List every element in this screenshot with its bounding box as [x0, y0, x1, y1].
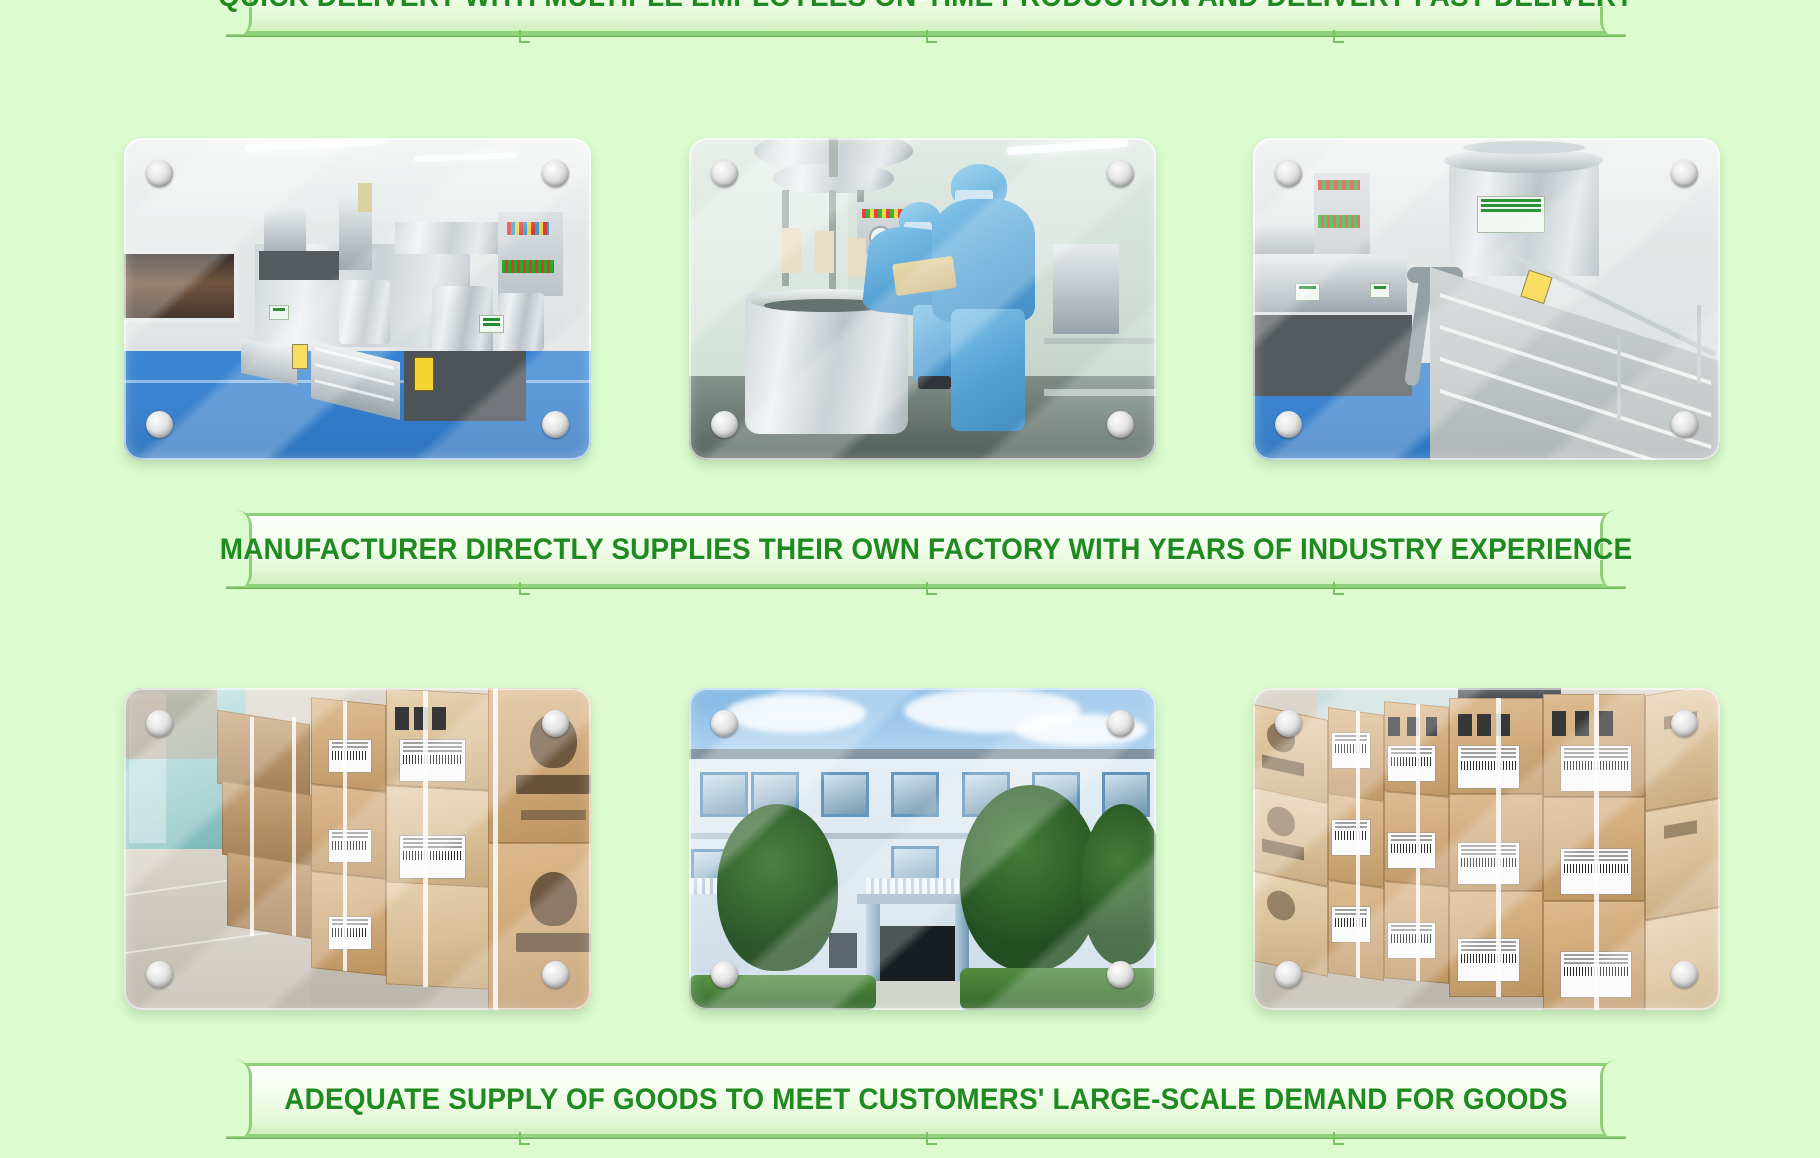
photo-scene	[124, 688, 591, 1010]
banner-top-text: QUICK DELIVERY WITH MULTIPLE EMPLOYEES O…	[275, 0, 1577, 34]
banner-bottom-rail	[226, 1132, 1626, 1143]
banner-middle: MANUFACTURER DIRECTLY SUPPLIES THEIR OWN…	[226, 513, 1626, 587]
banner-bottom-text: ADEQUATE SUPPLY OF GOODS TO MEET CUSTOME…	[275, 1063, 1577, 1137]
photo-scene	[124, 138, 591, 460]
photo-cartons-labels[interactable]	[1253, 688, 1720, 1010]
rail-tick	[926, 30, 937, 43]
banner-cap-left	[223, 1060, 252, 1140]
banner-top: QUICK DELIVERY WITH MULTIPLE EMPLOYEES O…	[226, 0, 1626, 34]
photo-factory-building[interactable]	[689, 688, 1156, 1010]
rail-tick	[926, 1132, 937, 1145]
rail-tick	[519, 30, 530, 43]
photo-scene	[689, 688, 1156, 1010]
photo-scene	[689, 138, 1156, 460]
rail-tick	[926, 582, 937, 595]
banner-middle-rail	[226, 582, 1626, 593]
photo-mixing-line[interactable]	[124, 138, 591, 460]
rail-tick	[1333, 1132, 1344, 1145]
photo-operators[interactable]	[689, 138, 1156, 460]
banner-middle-text: MANUFACTURER DIRECTLY SUPPLIES THEIR OWN…	[275, 513, 1577, 587]
photo-cartons-lobby[interactable]	[124, 688, 591, 1010]
photo-scene	[1253, 688, 1720, 1010]
rail-tick	[519, 1132, 530, 1145]
rail-tick	[519, 582, 530, 595]
banner-bottom: ADEQUATE SUPPLY OF GOODS TO MEET CUSTOME…	[226, 1063, 1626, 1137]
photo-scene	[1253, 138, 1720, 460]
photo-vessel-stairs[interactable]	[1253, 138, 1720, 460]
rail-tick	[1333, 582, 1344, 595]
banner-top-rail	[226, 30, 1626, 41]
rail-tick	[1333, 30, 1344, 43]
banner-cap-right	[1600, 1060, 1629, 1140]
